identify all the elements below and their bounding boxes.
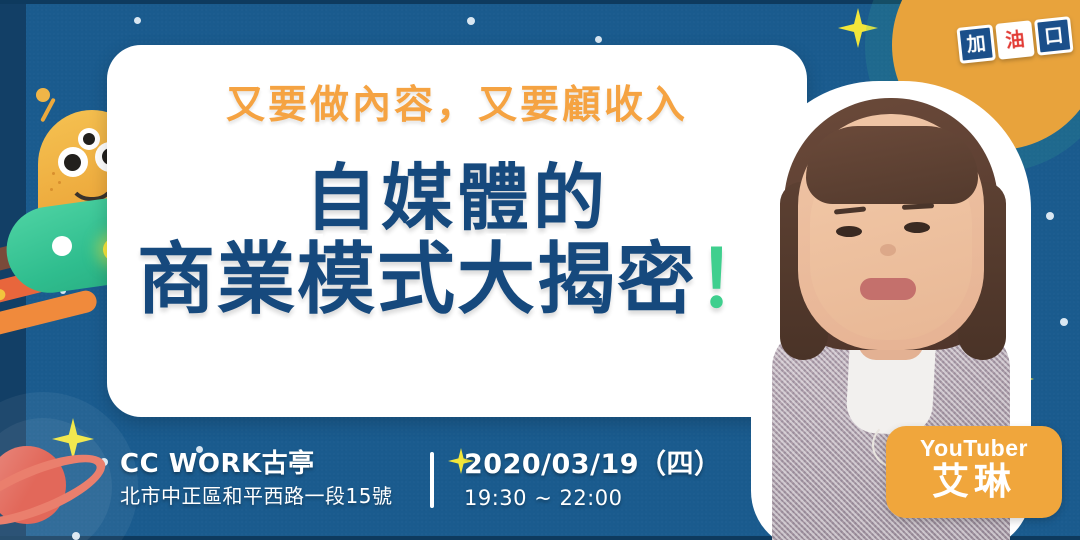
- mascot-eye-left: [58, 147, 88, 177]
- info-divider: [430, 452, 434, 508]
- speaker-bangs: [806, 126, 978, 204]
- speaker-mouth: [860, 278, 916, 300]
- speaker-role: YouTuber: [886, 436, 1062, 461]
- star-dot: [1046, 212, 1054, 220]
- speaker-eye-right: [904, 222, 930, 233]
- event-subtitle: 又要做內容，又要顧收入: [107, 86, 807, 125]
- mascot-freckle: [52, 172, 55, 175]
- planet-decoration: [0, 392, 138, 540]
- mascot-freckle: [50, 188, 53, 191]
- speaker-badge: YouTuber 艾琳: [886, 426, 1062, 518]
- speaker-eye-left: [836, 226, 862, 237]
- star-dot: [134, 17, 141, 24]
- event-title: 自媒體的 商業模式大揭密！: [107, 160, 807, 322]
- schedule-block: 2020/03/19（四） 19:30 ~ 22:00: [464, 448, 722, 512]
- speaker-name: 艾琳: [886, 461, 1062, 504]
- logo-char-1: 加: [956, 24, 996, 64]
- capsule-dot-white: [52, 236, 72, 256]
- title-line-2-text: 商業模式大揭密: [137, 235, 697, 325]
- star-dot: [595, 36, 602, 43]
- logo-char-3: 口: [1034, 16, 1074, 56]
- mascot-antenna-ball: [36, 88, 50, 102]
- venue-name: CC WORK古亭: [120, 448, 420, 481]
- venue-block: CC WORK古亭 北市中正區和平西路一段15號: [120, 448, 420, 510]
- title-line-1: 自媒體的: [107, 160, 807, 238]
- event-time: 19:30 ~ 22:00: [464, 485, 722, 512]
- star-dot: [467, 17, 475, 25]
- venue-address: 北市中正區和平西路一段15號: [120, 483, 420, 509]
- logo-char-2: 油: [995, 20, 1035, 60]
- mascot-freckle: [58, 181, 61, 184]
- speaker-nose: [880, 244, 896, 256]
- star-dot: [1060, 318, 1068, 326]
- event-promo-banner: 加 油 口 又要做內容，又要顧收入 自媒體的 商業模式大揭密！: [0, 0, 1080, 540]
- mascot-eye-top: [78, 128, 100, 150]
- title-line-2: 商業模式大揭密！: [107, 238, 807, 322]
- event-date: 2020/03/19（四）: [464, 448, 722, 482]
- event-info-bar: CC WORK古亭 北市中正區和平西路一段15號 2020/03/19（四） 1…: [120, 448, 722, 512]
